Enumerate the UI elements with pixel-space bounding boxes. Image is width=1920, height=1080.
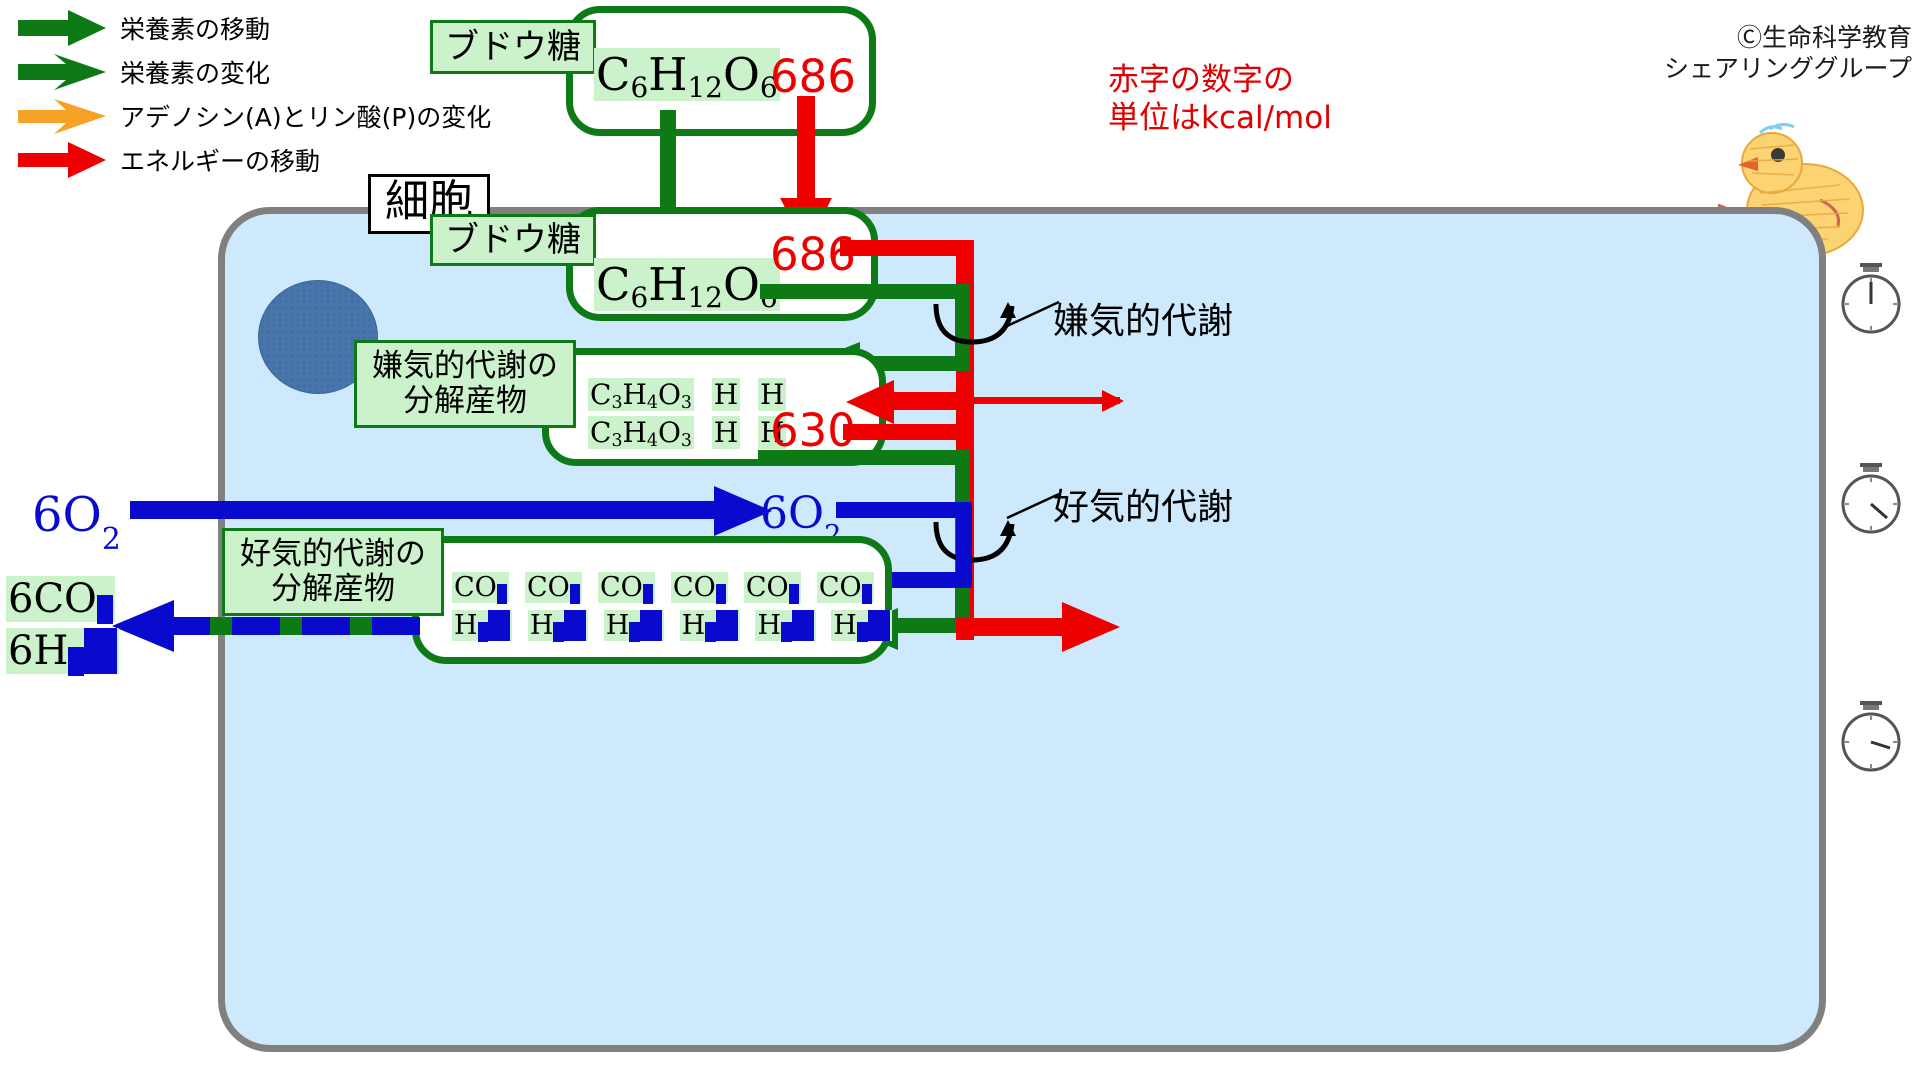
energy-630-shaft-h [843,424,973,440]
legend-item-label: 栄養素の変化 [120,54,270,90]
aerobic-tag-line-2: 分解産物 [271,572,395,607]
anaerobic-energy-thin-arrowhead-icon [1100,388,1126,419]
energy-686-shaft-h [840,240,972,256]
anaerobic-callout-leader [1005,300,1061,333]
unit-note: 赤字の数字の 単位はkcal/mol [1108,62,1332,138]
red-block-arrow-right-icon [10,138,120,182]
oxygen-input-shaft [130,501,730,519]
anaerobic-callout-label: 嫌気的代謝 [1053,292,1233,344]
legend-item-label: アデノシン(A)とリン酸(P)の変化 [120,98,491,134]
molecule-chip: C3H4O3 [588,378,694,411]
energy-transfer-shaft-outside [797,96,815,212]
output-arrowhead-icon [110,596,176,661]
molecule-chip: H2O [680,610,740,641]
aerobic-row-co2: CO2 CO2 CO2 CO2 CO2 CO2 [452,572,874,603]
credit-block: Ⓒ生命科学教育 シェアリンググループ [1664,22,1912,84]
oxygen-route-h [836,502,972,518]
credit-line-2: シェアリンググループ [1664,53,1912,84]
molecule-chip: H2O [604,610,664,641]
anaerobic-to-aerobic-h [758,450,970,465]
anaerobic-products-tag: 嫌気的代謝の 分解産物 [354,340,576,428]
output-shaft-blue-dashes [170,617,420,635]
molecule-chip: H [712,416,740,449]
molecule-chip: CO2 [671,572,728,603]
molecule-chip: H [712,378,740,411]
aerobic-callout-label: 好気的代謝 [1053,478,1233,530]
credit-line-1: Ⓒ生命科学教育 [1664,22,1912,53]
aerobic-products-tag: 好気的代謝の 分解産物 [222,528,444,616]
molecule-chip: CO2 [744,572,801,603]
glucose-tag-inside: ブドウ糖 [430,214,596,266]
timer-icon-2 [1838,462,1904,541]
anaerobic-tag-line-2: 分解産物 [403,384,527,419]
aerobic-loop-icon [930,518,1020,573]
h2o-output-label: 6H2O [6,628,119,674]
aerobic-callout-leader [1005,492,1061,525]
legend-item: アデノシン(A)とリン酸(P)の変化 [10,94,570,138]
glucose-to-anaerobic-h1 [760,284,970,299]
glucose-formula-outside: C6H12O6 [594,48,780,101]
diagram-canvas: 栄養素の移動 栄養素の変化 アデノシン(A)とリン酸(P)の変化 [0,0,1920,1080]
aerobic-row-h2o: H2O H2O H2O H2O H2O H2O [452,610,892,641]
timer-icon-3 [1838,700,1904,779]
molecule-chip: H2O [528,610,588,641]
anaerobic-row-2: C3H4O3 H H [588,416,786,449]
molecule-chip: H2O [452,610,512,641]
unit-note-line-1: 赤字の数字の [1108,62,1332,100]
timer-icon-1 [1838,262,1904,341]
final-energy-arrowhead-icon [1060,596,1122,663]
molecule-chip: C3H4O3 [588,416,694,449]
orange-chevron-arrow-right-icon [10,94,120,138]
anaerobic-row-1: C3H4O3 H H [588,378,786,411]
unit-note-line-2: 単位はkcal/mol [1108,100,1332,138]
molecule-chip: H2O [831,610,891,641]
legend-item-label: エネルギーの移動 [120,142,320,178]
anaerobic-tag-line-1: 嫌気的代謝の [372,349,558,384]
glucose-tag-outside: ブドウ糖 [430,20,596,74]
final-energy-shaft [956,618,1076,636]
green-block-arrow-right-icon [10,6,120,50]
green-chevron-arrow-right-icon [10,50,120,94]
molecule-chip: CO2 [525,572,582,603]
molecule-chip: CO2 [817,572,874,603]
oxygen-input-label: 6O2 [32,487,121,550]
molecule-chip: CO2 [598,572,655,603]
co2-output-label: 6CO2 [6,576,115,622]
glucose-formula-inside: C6H12O6 [594,258,780,311]
legend-item-label: 栄養素の移動 [120,10,270,46]
molecule-chip: H2O [755,610,815,641]
aerobic-tag-line-1: 好気的代謝の [240,537,426,572]
molecule-chip: CO2 [452,572,509,603]
